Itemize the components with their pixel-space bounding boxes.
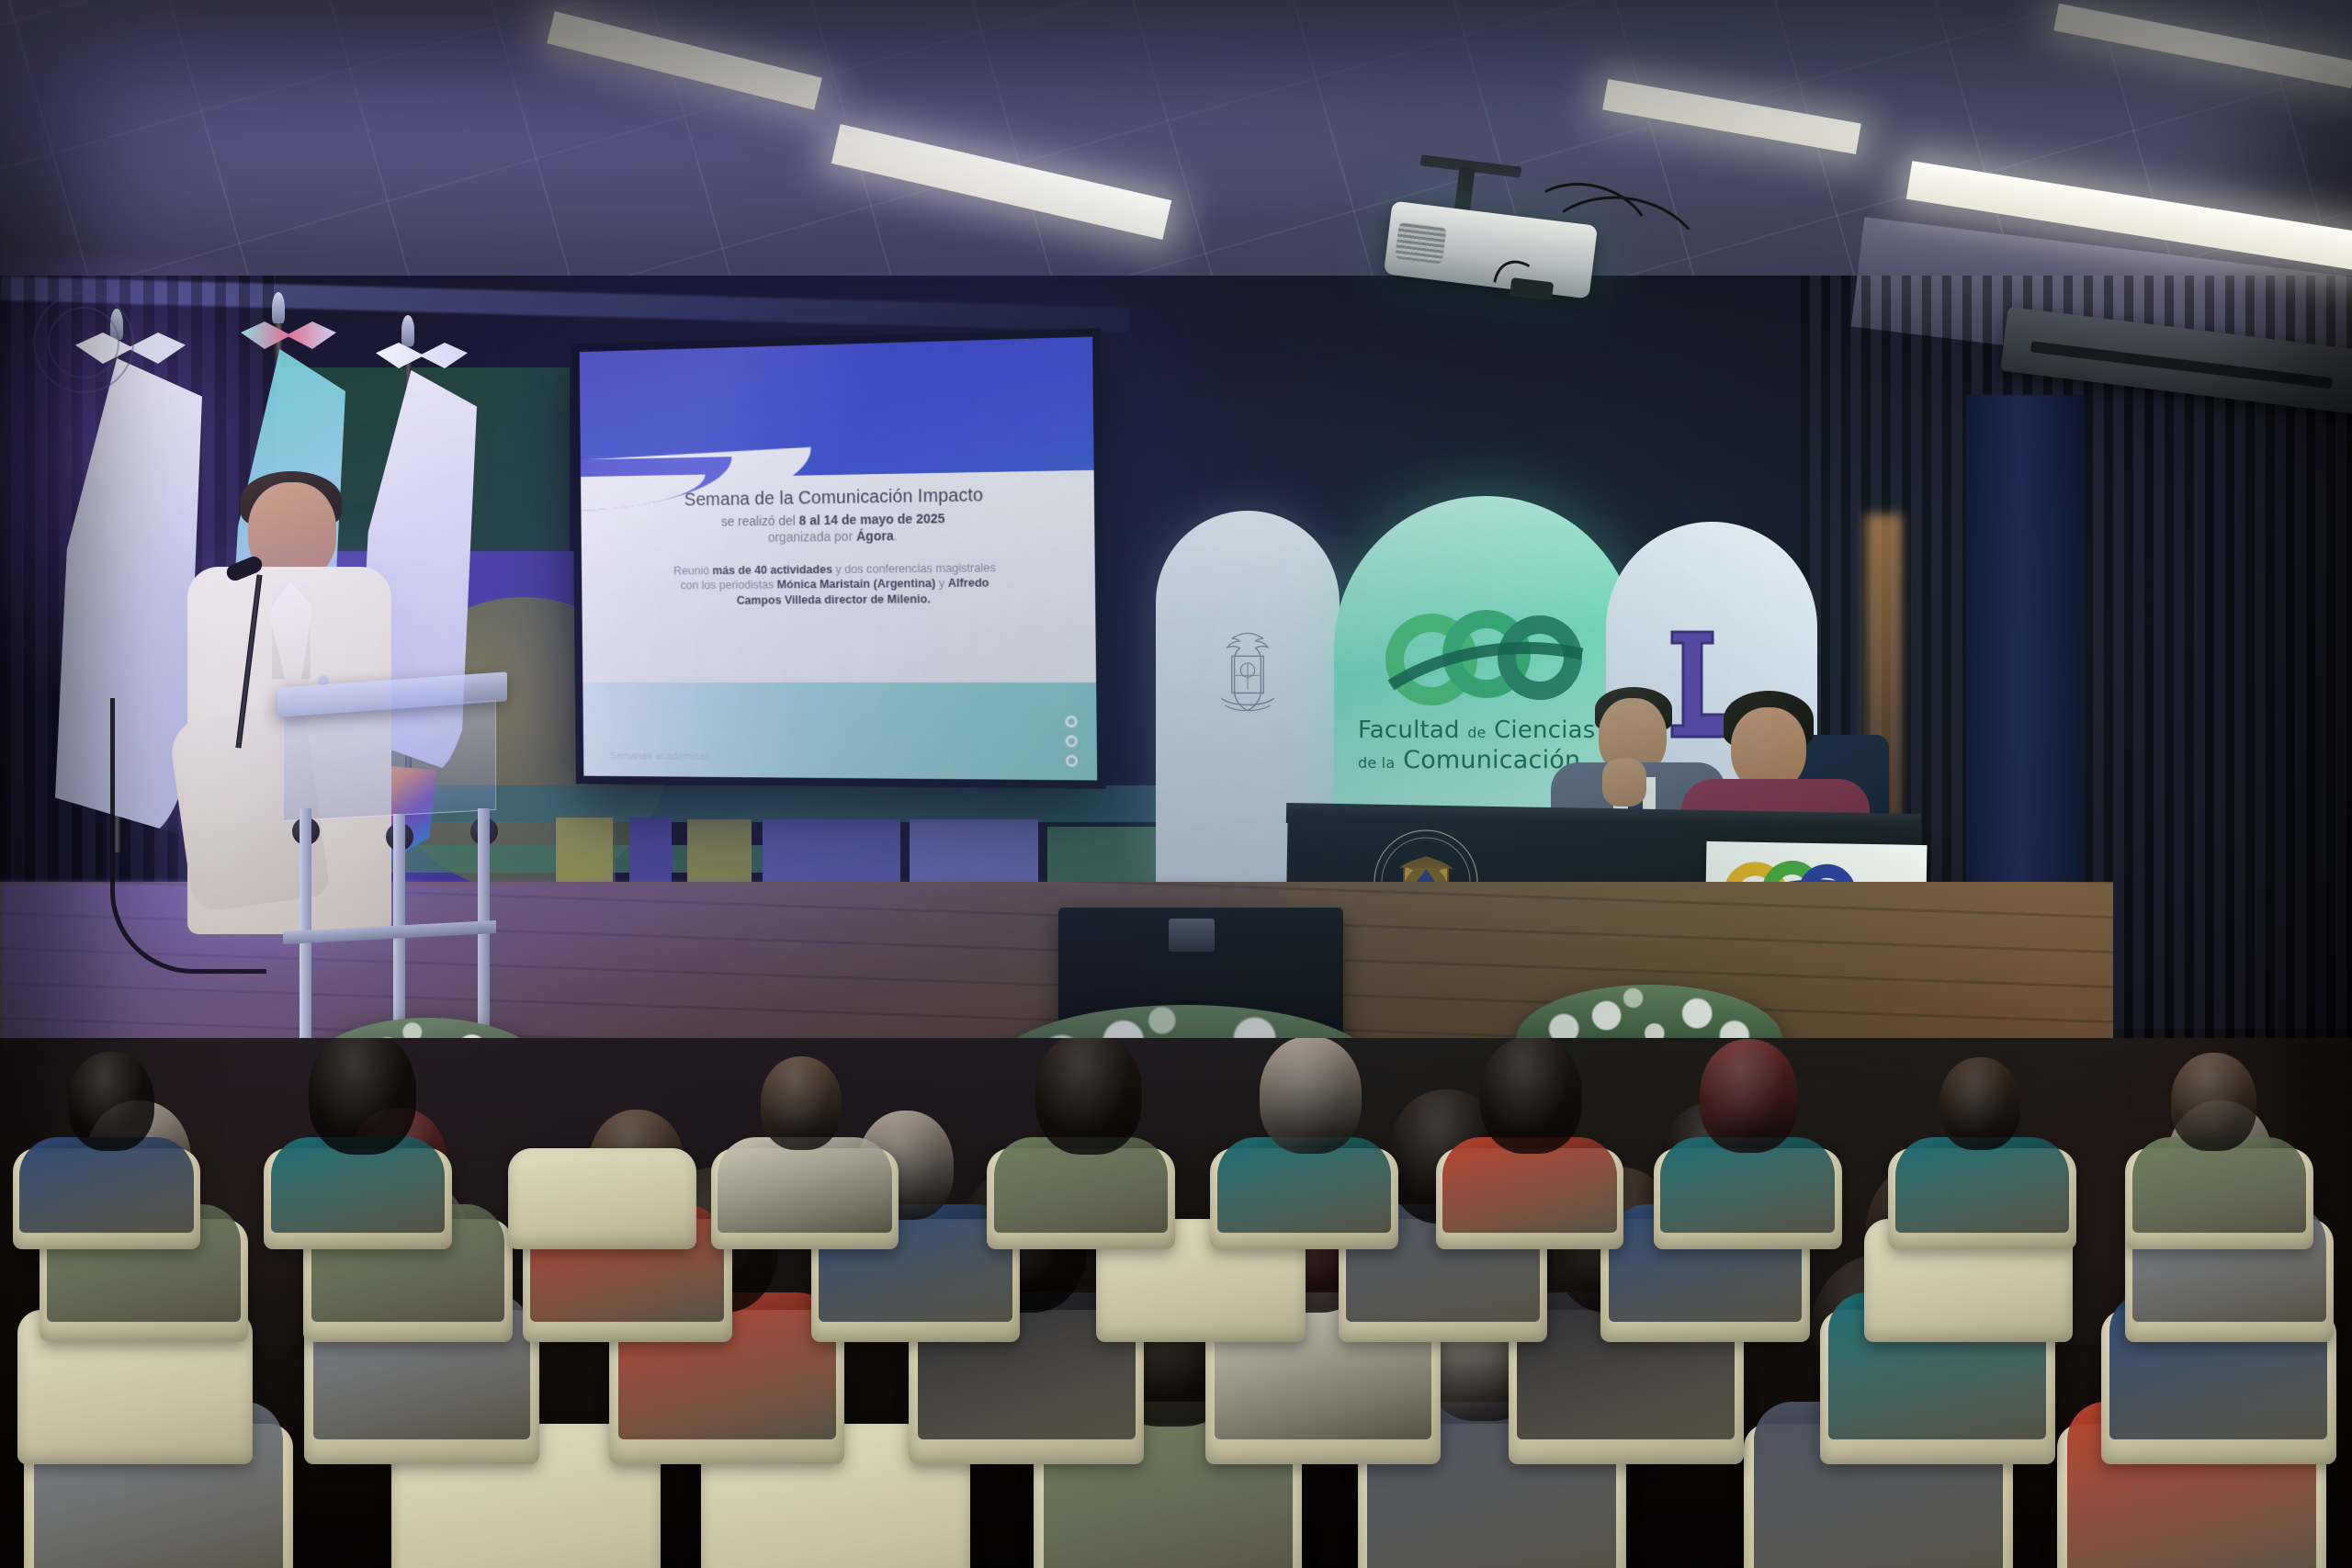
slide-organizer-suffix: . (893, 528, 897, 543)
slide-dot (1065, 735, 1078, 747)
slide-body-l1b: más de 40 actividades (712, 563, 832, 577)
interlocking-rings-logo-icon (1378, 606, 1589, 712)
slide-subtitle-prefix: se realizó del (721, 513, 799, 528)
monitor-badge (1169, 919, 1215, 952)
slide-text-block: Semana de la Comunicación Impacto se rea… (581, 483, 1095, 609)
audience-member-torso (1895, 1137, 2069, 1233)
audience-member-head (309, 1038, 416, 1155)
audience-member-head (1700, 1039, 1799, 1153)
slide-subtitle-dates-value: 8 al 14 de mayo de 2025 (799, 511, 945, 527)
audience-member-head (761, 1056, 842, 1150)
microphone-cable (110, 698, 266, 974)
projector-vent (1395, 222, 1446, 265)
slide-dot (1066, 755, 1079, 767)
slide-body-l3: Campos Villeda director de Milenio. (737, 592, 931, 607)
fcc-line1-small: de (1467, 724, 1486, 741)
audience-member-head (1035, 1038, 1142, 1155)
projection-screen: Semana de la Comunicación Impacto se rea… (571, 328, 1106, 789)
auditorium-scene: Semana de la Comunicación Impacto se rea… (0, 0, 2352, 1568)
fcc-line2: Comunicación (1403, 746, 1580, 774)
audience-area (0, 1038, 2352, 1568)
flag-finial (401, 315, 414, 346)
podium-glass-panel (283, 700, 496, 821)
slide-body-l2d: Alfredo (948, 577, 989, 591)
slide-organizer-name: Ágora (856, 528, 894, 544)
uadec-coat-of-arms-icon (1204, 621, 1292, 722)
slide-footer-band (582, 682, 1097, 780)
audience-member-torso (2132, 1137, 2306, 1233)
slide-footer-label: Semanas académicas (610, 750, 711, 762)
fcc-line1b: Ciencias (1494, 716, 1595, 744)
flag-seal-emblem (33, 292, 134, 393)
audience-member-head (1260, 1038, 1362, 1154)
audience-member-head (1480, 1038, 1582, 1154)
flag-finial (272, 292, 285, 323)
panelist-hand (1602, 759, 1646, 807)
slide-dot-indicators (1065, 716, 1078, 767)
audience-member-torso (19, 1137, 193, 1233)
slide-organizer-prefix: organizada por (768, 528, 856, 544)
audience-member-head (2171, 1053, 2256, 1151)
slide-body-l2c: y (935, 577, 948, 590)
audience-member-head (68, 1052, 154, 1151)
slide-body: Reunió más de 40 actividades y dos confe… (606, 559, 1069, 609)
presentation-slide: Semana de la Comunicación Impacto se rea… (580, 337, 1098, 781)
audience-seat[interactable] (508, 1148, 696, 1248)
fcc-line1: Facultad (1358, 716, 1460, 744)
slide-body-l2b: Mónica Maristain (Argentina) (777, 577, 936, 591)
podium-shelf (283, 920, 496, 944)
audience-member-torso (718, 1137, 891, 1233)
slide-dot (1065, 716, 1078, 728)
fcc-line2-small: de la (1358, 754, 1395, 772)
slide-body-l1a: Reunió (673, 564, 712, 577)
slide-body-l1c: y dos conferencias magistrales (832, 561, 996, 576)
audience-member-head (1939, 1057, 2020, 1150)
slide-body-l2a: con los periodistas (681, 579, 777, 592)
